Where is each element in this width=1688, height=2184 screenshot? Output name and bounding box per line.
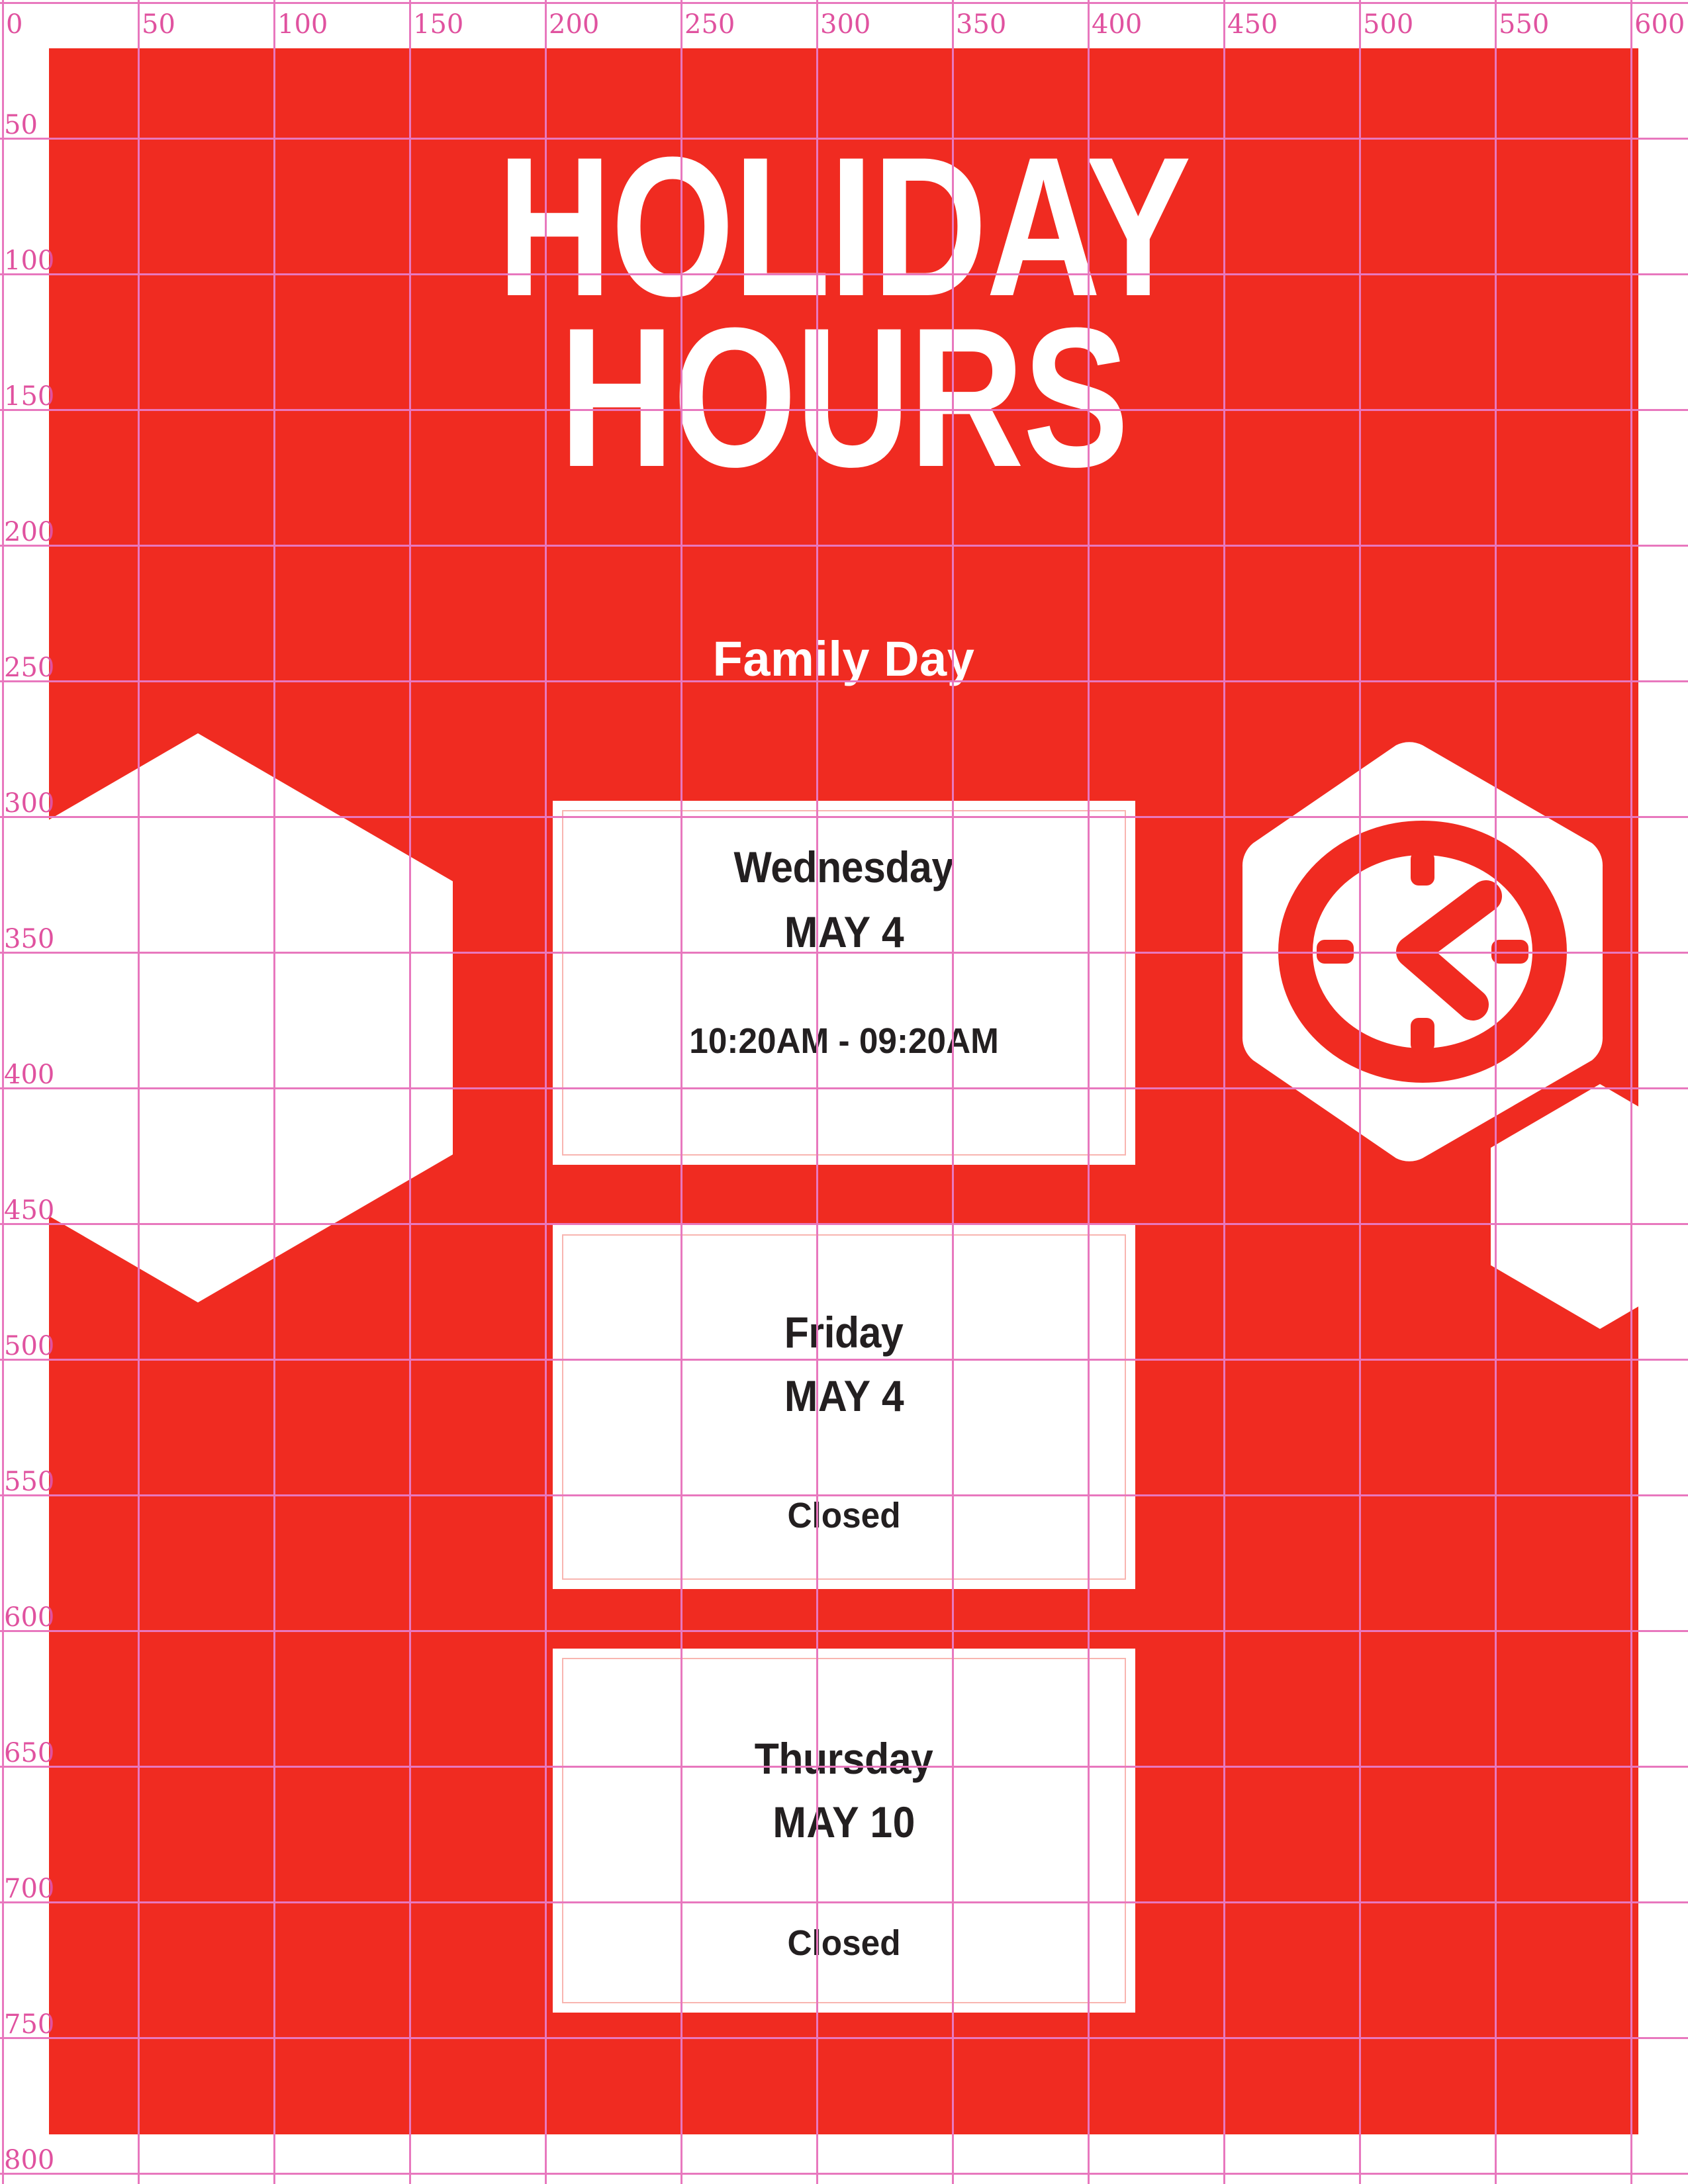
grid-tick-label-y: 800 [4,2145,54,2175]
schedule-day-label: Friday [784,1307,903,1357]
grid-tick-label-x: 500 [1363,9,1413,40]
grid-tick-label-x: 200 [549,9,599,40]
grid-tick-label-y: 150 [4,381,54,412]
grid-tick-label-x: 350 [956,9,1006,40]
grid-tick-label-x: 100 [277,9,328,40]
grid-tick-label-y: 100 [4,246,54,276]
grid-tick-label-y: 450 [4,1195,54,1226]
schedule-day-label: Thursday [755,1733,933,1784]
grid-tick-label-x: 150 [413,9,463,40]
grid-tick-label-x: 300 [820,9,870,40]
grid-tick-label-x: 450 [1227,9,1278,40]
grid-tick-label-y: 550 [4,1467,54,1497]
schedule-card-inner: Thursday MAY 10 Closed [562,1658,1126,2003]
poster-canvas: HOLIDAY HOURS Family Day Wednesday MAY 4… [49,48,1638,2134]
schedule-hours-label: Closed [787,1495,900,1536]
grid-tick-label-y: 650 [4,1738,54,1768]
grid-tick-label-y: 0 [4,0,21,5]
grid-tick-label-y: 200 [4,517,54,547]
grid-tick-label-x: 400 [1092,9,1142,40]
grid-tick-label-x: 550 [1499,9,1549,40]
schedule-hours-label: 10:20AM - 09:20AM [689,1021,999,1062]
grid-line-horizontal [0,2,1688,4]
page-title: HOLIDAY HOURS [208,141,1479,482]
grid-tick-label-y: 50 [4,110,38,140]
schedule-card-inner: Wednesday MAY 4 10:20AM - 09:20AM [562,810,1126,1156]
hexagon-decoration-large-icon [49,733,453,1302]
schedule-hours-label: Closed [787,1923,900,1964]
schedule-date-label: MAY 4 [784,1371,904,1421]
grid-line-horizontal [0,2173,1688,2175]
grid-tick-label-y: 400 [4,1060,54,1090]
grid-tick-label-y: 250 [4,653,54,683]
schedule-card: Thursday MAY 10 Closed [553,1649,1135,2013]
schedule-card-inner: Friday MAY 4 Closed [562,1234,1126,1580]
schedule-day-label: Wednesday [734,842,954,892]
page-subtitle: Family Day [49,631,1638,687]
grid-tick-label-y: 750 [4,2009,54,2040]
grid-tick-label-y: 600 [4,1602,54,1633]
grid-tick-label-y: 350 [4,924,54,954]
schedule-card: Wednesday MAY 4 10:20AM - 09:20AM [553,801,1135,1165]
grid-tick-label-x: 600 [1634,9,1685,40]
grid-tick-label-y: 500 [4,1331,54,1361]
grid-tick-label-x: 250 [684,9,735,40]
grid-tick-label-y: 700 [4,1874,54,1904]
schedule-date-label: MAY 10 [773,1797,915,1847]
schedule-card: Friday MAY 4 Closed [553,1225,1135,1589]
grid-line-vertical [2,0,4,2184]
grid-tick-label-x: 50 [142,9,175,40]
schedule-date-label: MAY 4 [784,907,904,957]
grid-tick-label-x: 0 [6,9,23,40]
grid-tick-label-y: 300 [4,788,54,819]
clock-hexagon-icon [1237,740,1608,1163]
